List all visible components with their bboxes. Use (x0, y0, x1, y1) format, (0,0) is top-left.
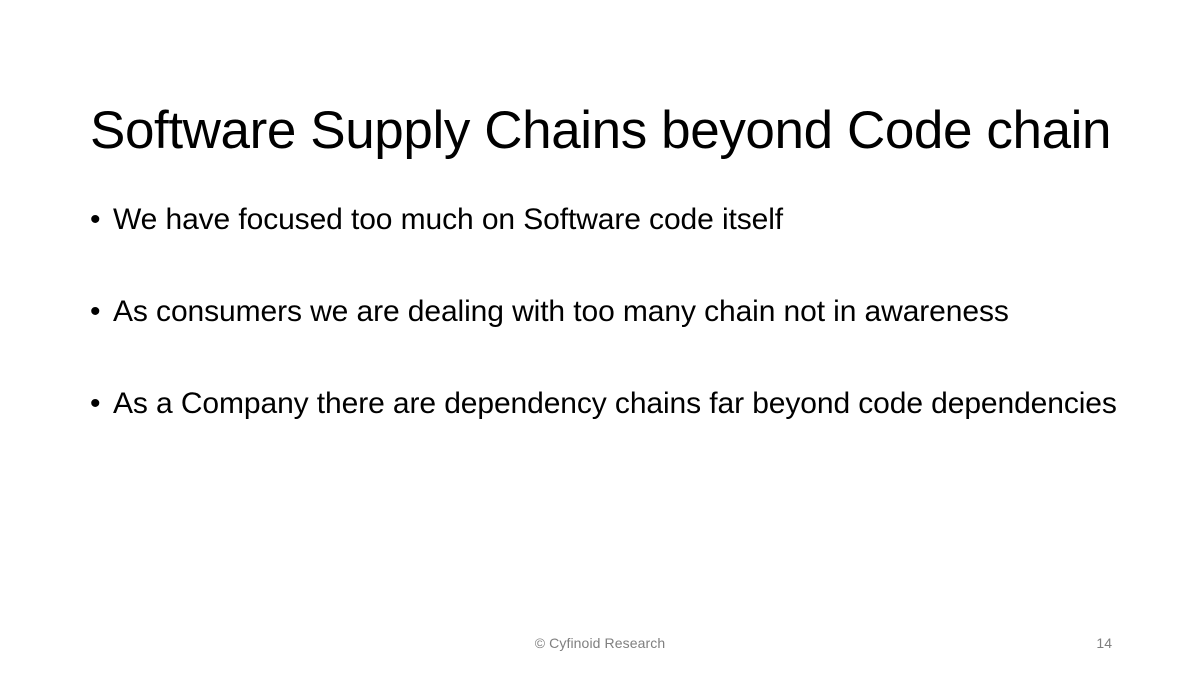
list-item: • As a Company there are dependency chai… (90, 380, 1150, 427)
slide-body-content: • We have focused too much on Software c… (90, 196, 1150, 427)
page-number: 14 (1096, 634, 1112, 652)
list-item: • As consumers we are dealing with too m… (90, 288, 1150, 335)
list-item-text: As consumers we are dealing with too man… (113, 288, 1150, 335)
page-title: Software Supply Chains beyond Code chain (90, 99, 1120, 163)
list-item-text: We have focused too much on Software cod… (113, 196, 1150, 243)
list-item: • We have focused too much on Software c… (90, 196, 1150, 243)
footer-copyright: © Cyfinoid Research (0, 634, 1200, 652)
bullet-icon: • (90, 288, 104, 335)
presentation-slide: Software Supply Chains beyond Code chain… (0, 0, 1200, 675)
list-item-text: As a Company there are dependency chains… (113, 380, 1150, 427)
bullet-icon: • (90, 196, 104, 243)
bullet-icon: • (90, 380, 104, 427)
